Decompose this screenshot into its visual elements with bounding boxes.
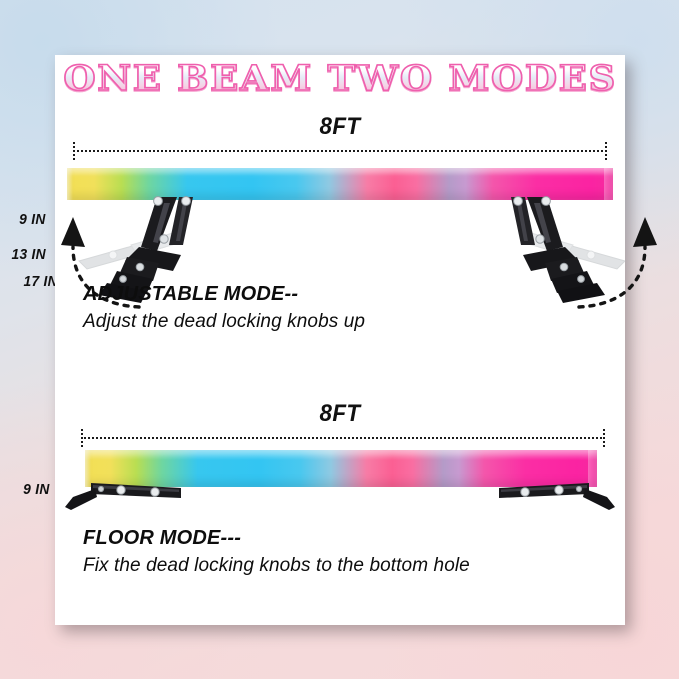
- mode-title-floor: FLOOR MODE---: [83, 527, 470, 550]
- height-label-13in-adjustable: 13 IN: [11, 246, 45, 263]
- beam-top-face: [67, 168, 613, 176]
- height-label-9in-adjustable: 9 IN: [19, 211, 45, 228]
- content-card: ONE BEAM TWO MODES 8FT: [55, 55, 625, 625]
- beam-top-face-floor: [85, 450, 597, 460]
- mode-subtitle-adjustable: Adjust the dead locking knobs up: [83, 311, 365, 333]
- page-title: ONE BEAM TWO MODES: [63, 61, 617, 96]
- height-label-9in-floor: 9 IN: [23, 481, 49, 498]
- folded-leg-right-floor: [493, 479, 623, 513]
- length-dimension-line-bottom: [81, 432, 605, 444]
- mode-block-adjustable: ADJUSTABLE MODE-- Adjust the dead lockin…: [83, 283, 365, 333]
- length-label-bottom: 8FT: [75, 400, 605, 428]
- infographic-canvas: 9 IN 13 IN 17 IN 9 IN ONE BEAM TWO MODES…: [0, 0, 679, 679]
- mode-title-adjustable: ADJUSTABLE MODE--: [83, 283, 365, 306]
- length-label-top: 8FT: [75, 113, 605, 141]
- mode-block-floor: FLOOR MODE--- Fix the dead locking knobs…: [83, 527, 470, 577]
- title-container: ONE BEAM TWO MODES: [55, 61, 625, 96]
- length-dimension-line-top: [73, 145, 607, 157]
- curved-adjust-arrow-icon-right: [571, 203, 671, 313]
- folded-leg-left-floor: [57, 479, 187, 513]
- mode-subtitle-floor: Fix the dead locking knobs to the bottom…: [83, 555, 470, 577]
